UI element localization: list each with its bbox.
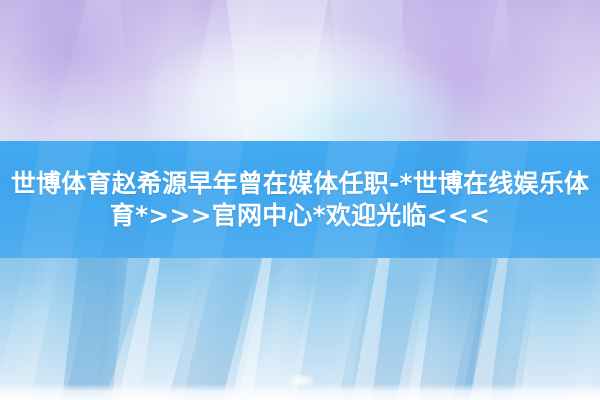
headline-line-1: 世博体育赵希源早年曾在媒体任职-*世博在线娱乐体	[11, 169, 589, 199]
bottom-watermark-glow	[288, 374, 314, 386]
headline-text-block: 世博体育赵希源早年曾在媒体任职-*世博在线娱乐体 育*>>>官网中心*欢迎光临<…	[0, 141, 600, 258]
promo-banner: 世博体育赵希源早年曾在媒体任职-*世博在线娱乐体 育*>>>官网中心*欢迎光临<…	[0, 0, 600, 400]
bottom-light-strip	[0, 384, 600, 400]
headline-line-2: 育*>>>官网中心*欢迎光临<<<	[110, 201, 490, 231]
